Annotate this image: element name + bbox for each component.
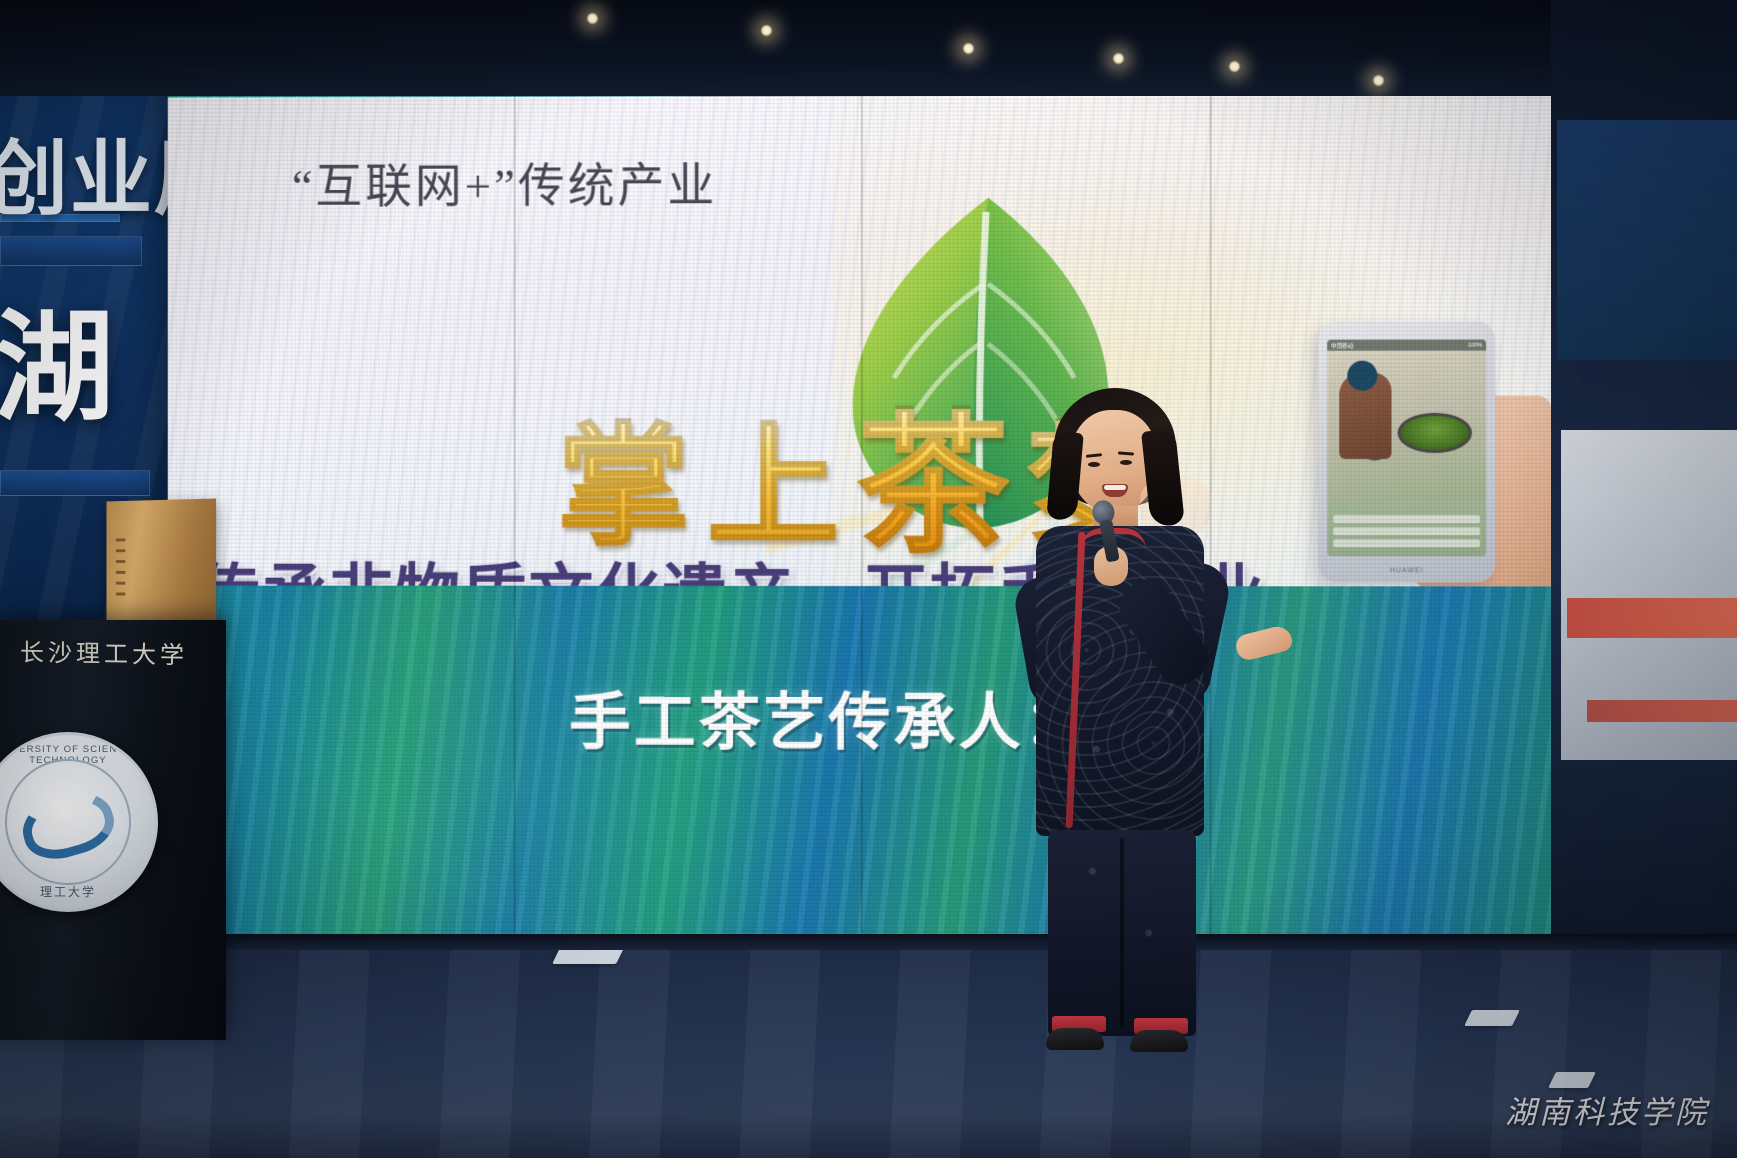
phone-row	[1333, 527, 1480, 535]
auditorium-scene: 创业展 湖 湖南科技学院 HUNAN UNIVERSITY OF SCIENCE…	[0, 0, 1737, 1158]
title-char-2: 上	[707, 421, 839, 553]
app-tea-pan	[1398, 413, 1472, 453]
speaker-podium: 长沙理工大学 UNIVERSITY OF SCIENCE & TECHNOLOG…	[0, 500, 232, 1040]
presenter-trousers	[1048, 830, 1196, 1036]
ceiling-light	[1228, 60, 1241, 73]
phone-content-rows	[1327, 510, 1486, 556]
presenter-shoe-right	[1130, 1030, 1188, 1052]
floor-paper-scrap	[552, 948, 624, 964]
led-display-screen[interactable]: 湖南科技学院 HUNAN UNIVERSITY OF SCIENCE AND E…	[168, 0, 1560, 942]
banner-block-2	[0, 470, 150, 496]
right-wall-red-stripe-2	[1587, 700, 1737, 722]
phone-row	[1333, 539, 1480, 547]
presenter-eye-right	[1120, 460, 1132, 465]
slide-lower-area: 手工茶艺传承人：梦	[168, 586, 1560, 942]
led-panel-seam	[514, 1, 516, 939]
presenter-shoe-left	[1046, 1028, 1104, 1050]
phone-battery-label: 100%	[1468, 342, 1482, 348]
podium-front-panel: 长沙理工大学 UNIVERSITY OF SCIENCE & TECHNOLOG…	[0, 620, 226, 1040]
podium-lectern-top	[106, 498, 216, 629]
right-wall-red-stripe	[1567, 598, 1737, 638]
slide-upper-area: “互联网+”传统产业	[168, 95, 1560, 587]
photo-watermark: 湖南科技学院	[1505, 1087, 1709, 1132]
ceiling-light	[1112, 52, 1125, 65]
phone-mockup: 中国移动 100% HUAWEI	[1318, 321, 1495, 582]
right-side-wall	[1551, 0, 1737, 940]
phone-screen: 中国移动 100%	[1327, 340, 1486, 557]
floor-paper-scrap	[1548, 1072, 1596, 1088]
banner-text-line-2: 湖	[0, 270, 116, 444]
phone-row	[1333, 515, 1480, 523]
microphone-body	[1099, 519, 1120, 563]
ceiling-light	[760, 24, 773, 37]
slide-kicker-text: “互联网+”传统产业	[292, 146, 718, 216]
ceiling-strip	[0, 0, 1737, 96]
presenter-person	[1008, 380, 1276, 1040]
led-panel-seam	[861, 0, 863, 940]
presenter-hair-strand-left	[1046, 431, 1084, 521]
phone-status-bar: 中国移动 100%	[1327, 340, 1486, 351]
emblem-text-bottom: 理工大学	[0, 883, 155, 900]
tea-app-preview-icon	[1327, 351, 1486, 502]
ceiling-light	[586, 12, 599, 25]
banner-text-line-1: 创业展	[0, 112, 176, 231]
ceiling-light	[1372, 74, 1385, 87]
presenter-eye-left	[1088, 462, 1100, 467]
podium-university-label: 长沙理工大学	[20, 633, 188, 671]
ceiling-light	[962, 42, 975, 55]
floor-paper-scrap	[1464, 1010, 1520, 1026]
phone-carrier-label: 中国移动	[1331, 341, 1353, 349]
stage-floor	[0, 936, 1737, 1158]
right-wall-blue-panel	[1557, 120, 1737, 360]
phone-brand-label: HUAWEI	[1390, 567, 1424, 574]
banner-block-1	[0, 236, 142, 266]
title-char-1: 掌	[558, 421, 690, 553]
title-char-3: 茶	[857, 409, 1009, 561]
podium-university-emblem: UNIVERSITY OF SCIENCE & TECHNOLOGY 理工大学	[0, 732, 158, 912]
app-person-head	[1347, 361, 1377, 391]
stage-edge	[0, 934, 1737, 950]
